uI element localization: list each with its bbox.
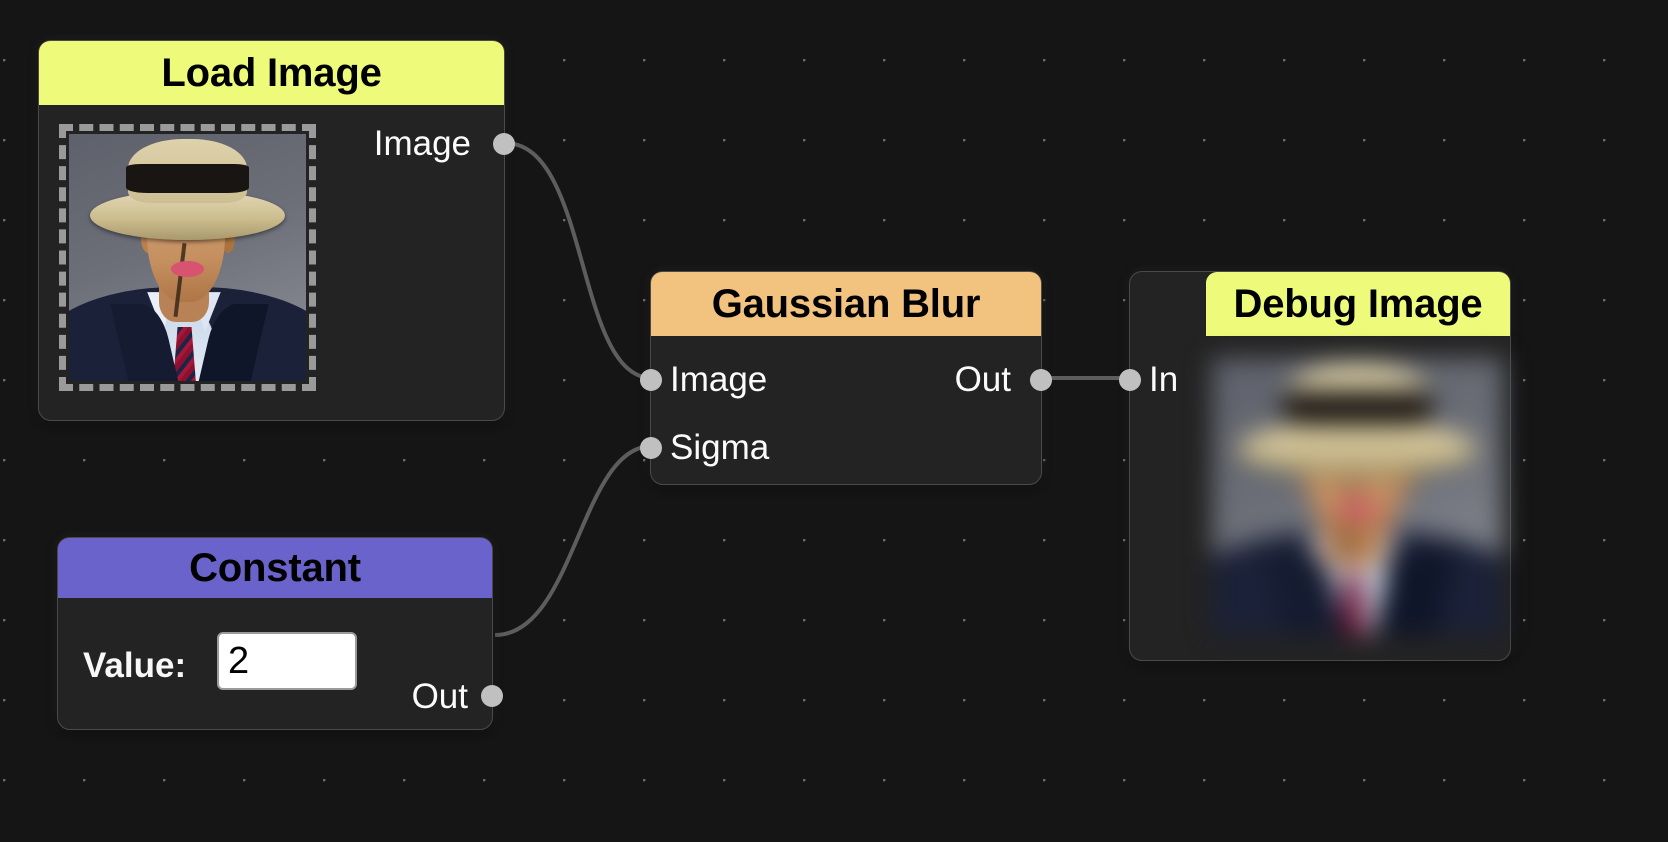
input-label-in: In	[1149, 362, 1178, 397]
node-title-load-image: Load Image	[161, 51, 381, 96]
node-title-constant: Constant	[189, 546, 361, 591]
input-label-image: Image	[670, 362, 767, 397]
node-body-constant: Value: 2 Out	[58, 598, 492, 731]
value-input[interactable]: 2	[217, 632, 357, 690]
node-header-load-image[interactable]: Load Image	[39, 41, 504, 105]
node-body-gaussian-blur: Image Sigma Out	[651, 336, 1041, 484]
output-label-out: Out	[412, 679, 468, 714]
node-header-constant[interactable]: Constant	[58, 538, 492, 598]
node-title-gaussian-blur: Gaussian Blur	[712, 282, 981, 327]
node-title-debug-image: Debug Image	[1234, 282, 1483, 327]
output-label-image: Image	[374, 126, 471, 161]
node-gaussian-blur[interactable]: Gaussian Blur Image Sigma Out	[650, 271, 1042, 485]
node-header-debug-image[interactable]: Debug Image	[1206, 272, 1510, 336]
node-constant[interactable]: Constant Value: 2 Out	[57, 537, 493, 730]
portrait-hat-band	[126, 164, 249, 194]
node-body-debug-image: In	[1130, 336, 1510, 660]
value-field-label: Value:	[83, 648, 186, 683]
node-graph-canvas[interactable]: Load Image	[0, 0, 1668, 842]
thumbnail-debug-image[interactable]	[1229, 374, 1486, 619]
node-debug-image[interactable]: Debug Image In	[1129, 271, 1511, 661]
portrait-hat-band	[1282, 391, 1433, 424]
output-port-out[interactable]	[1030, 369, 1052, 391]
image-preview-debug-image	[1212, 358, 1502, 635]
input-label-sigma: Sigma	[670, 430, 769, 465]
node-header-gaussian-blur[interactable]: Gaussian Blur	[651, 272, 1041, 336]
input-port-sigma[interactable]	[640, 437, 662, 459]
node-load-image[interactable]: Load Image	[38, 40, 505, 421]
input-port-image[interactable]	[640, 369, 662, 391]
input-port-in[interactable]	[1119, 369, 1141, 391]
image-preview-load-image	[69, 134, 306, 381]
output-label-out: Out	[955, 362, 1011, 397]
wire-loadimage-image-to-gaussianblur-image	[505, 143, 652, 378]
node-body-load-image: Image	[39, 105, 504, 420]
output-port-out[interactable]	[481, 685, 503, 707]
output-port-image[interactable]	[493, 133, 515, 155]
wire-constant-out-to-gaussianblur-sigma	[495, 446, 652, 635]
thumbnail-load-image[interactable]	[59, 124, 316, 391]
